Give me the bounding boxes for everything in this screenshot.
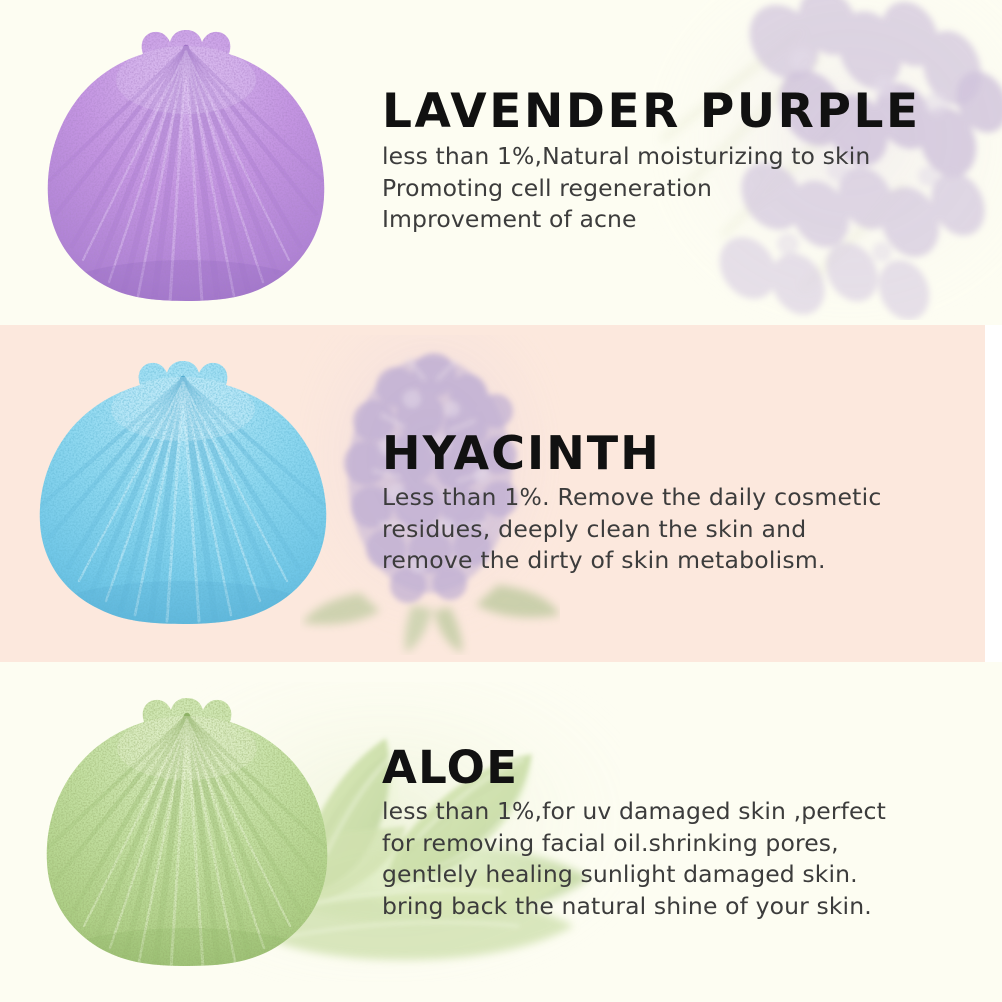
scallop-shell-shape	[36, 22, 336, 312]
scallop-shell-shape	[28, 355, 338, 630]
scallop-shell-shape	[36, 692, 338, 977]
aloe-line-4: bring back the natural shine of your ski…	[382, 891, 962, 923]
panel-lavender-purple: LAVENDER PURPLE less than 1%,Natural moi…	[0, 0, 1002, 325]
aloe-title: ALOE	[382, 745, 962, 790]
aloe-line-3: gentlely healing sunlight damaged skin.	[382, 859, 962, 891]
lavender-purple-line-2: Promoting cell regeneration	[382, 173, 942, 205]
panel-aloe: ALOE less than 1%,for uv damaged skin ,p…	[0, 662, 1002, 1002]
blue-konjac-sponge	[28, 355, 338, 630]
aloe-line-1: less than 1%,for uv damaged skin ,perfec…	[382, 796, 962, 828]
hyacinth-line-2: residues, deeply clean the skin and	[382, 514, 952, 546]
infographic-sheet: LAVENDER PURPLE less than 1%,Natural moi…	[0, 0, 1002, 1002]
hyacinth-line-1: Less than 1%. Remove the daily cosmetic	[382, 482, 952, 514]
panel-hyacinth: HYACINTH Less than 1%. Remove the daily …	[0, 325, 985, 662]
hyacinth-text-block: HYACINTH Less than 1%. Remove the daily …	[382, 430, 952, 577]
lavender-purple-konjac-sponge	[36, 22, 336, 312]
lavender-purple-line-3: Improvement of acne	[382, 204, 942, 236]
hyacinth-line-3: remove the dirty of skin metabolism.	[382, 545, 952, 577]
hyacinth-title: HYACINTH	[382, 430, 952, 476]
lavender-purple-text-block: LAVENDER PURPLE less than 1%,Natural moi…	[382, 88, 942, 236]
aloe-line-2: for removing facial oil.shrinking pores,	[382, 828, 962, 860]
green-konjac-sponge	[36, 692, 338, 977]
aloe-text-block: ALOE less than 1%,for uv damaged skin ,p…	[382, 745, 962, 922]
lavender-purple-line-1: less than 1%,Natural moisturizing to ski…	[382, 141, 942, 173]
lavender-purple-title: LAVENDER PURPLE	[382, 88, 942, 135]
